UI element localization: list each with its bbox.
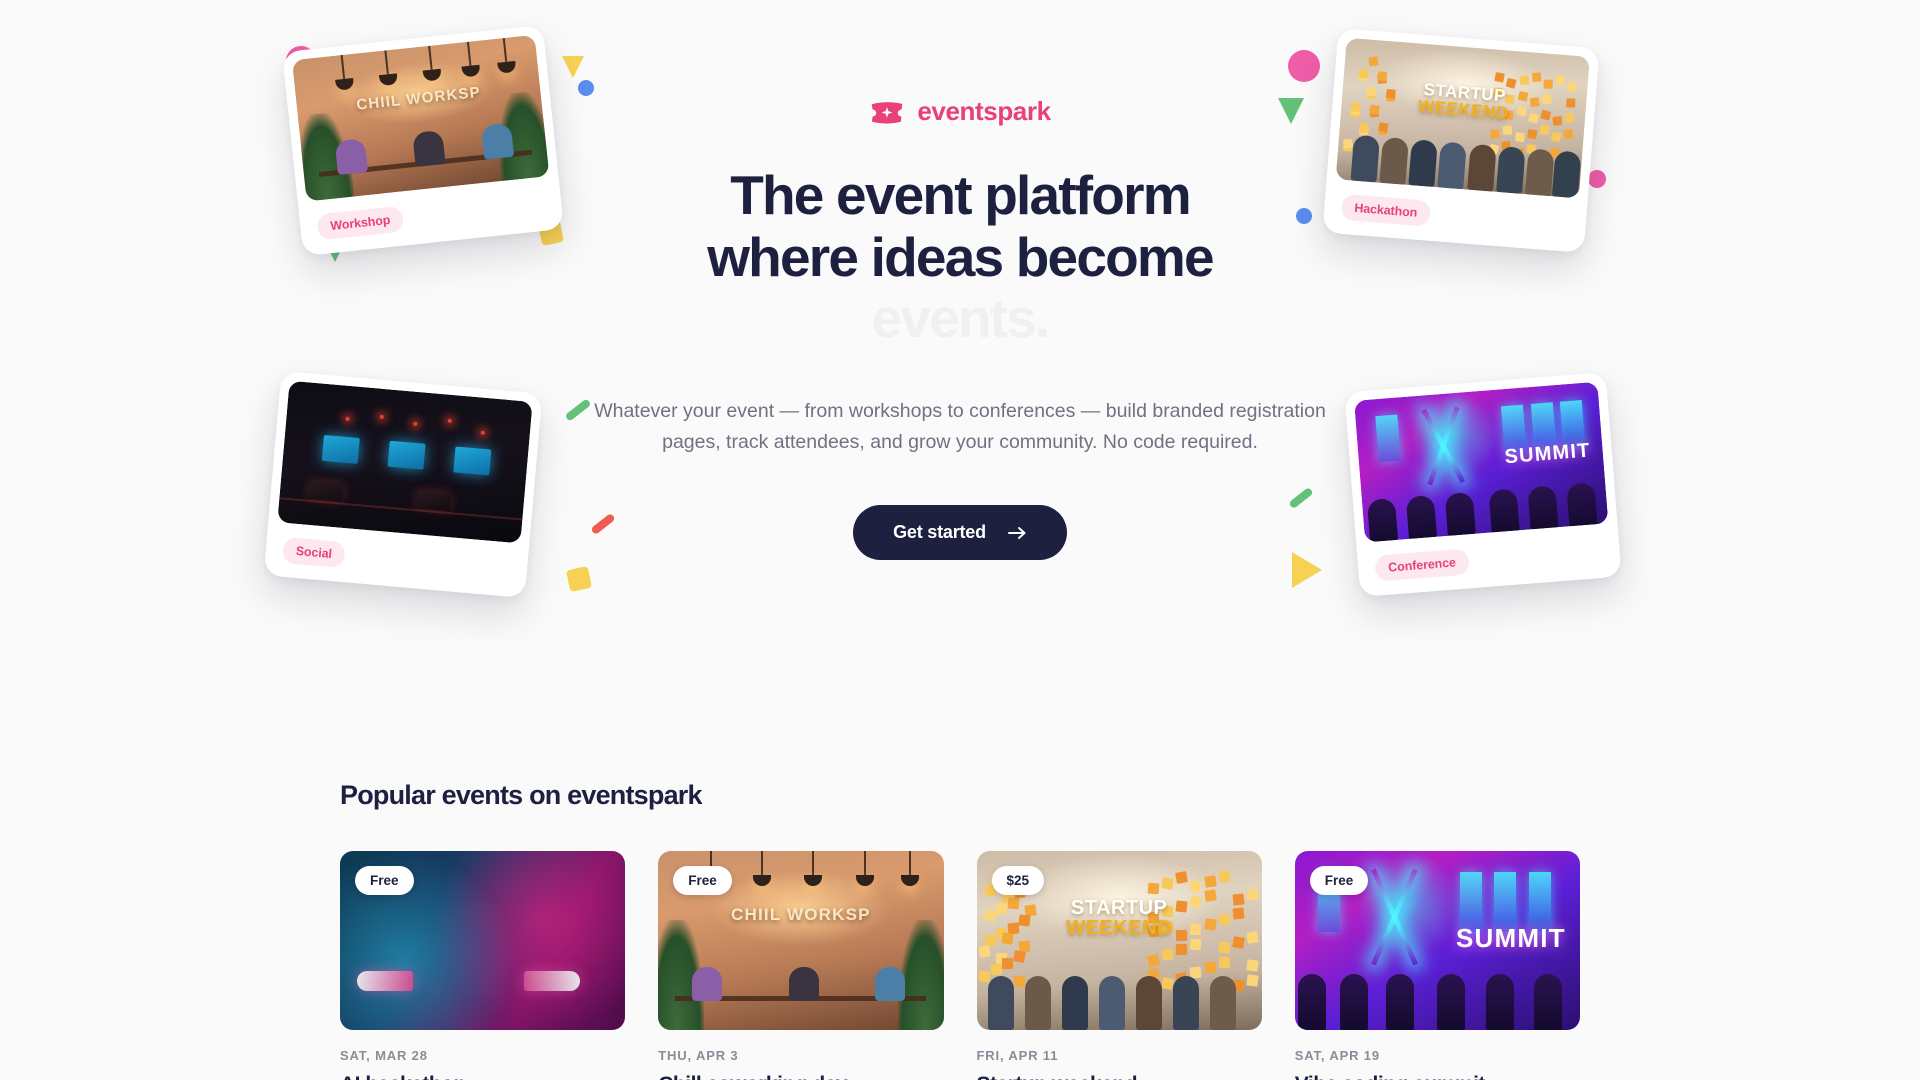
sticky-note bbox=[1532, 72, 1542, 82]
sticky-note bbox=[1556, 76, 1566, 86]
event-title: Chill coworking day bbox=[658, 1072, 943, 1080]
sticky-note bbox=[1204, 875, 1216, 887]
get-started-button[interactable]: Get started bbox=[853, 505, 1067, 560]
event-date: SAT, MAR 28 bbox=[340, 1048, 625, 1063]
event-date: THU, APR 3 bbox=[658, 1048, 943, 1063]
category-pill: Conference bbox=[1374, 548, 1470, 581]
category-pill: Social bbox=[282, 537, 346, 568]
floating-card-conference[interactable]: SUMMIT Conference bbox=[1344, 372, 1621, 597]
event-card[interactable]: Free CHIIL WORKSP THU, APR 3Chill cowork… bbox=[658, 851, 943, 1080]
price-badge: Free bbox=[355, 866, 414, 895]
floating-card-workshop[interactable]: CHIIL WORKSP Workshop bbox=[282, 25, 564, 256]
event-card[interactable]: Free SUMMIT SAT, APR 19Vibe coding summi… bbox=[1295, 851, 1580, 1080]
price-badge: Free bbox=[673, 866, 732, 895]
floating-card-thumb bbox=[277, 381, 532, 544]
conference-photo: SUMMIT bbox=[1354, 382, 1608, 543]
popular-events-section: Popular events on eventspark Free SAT, M… bbox=[0, 780, 1920, 1080]
hackathon-photo: STARTUP WEEKEND bbox=[1336, 38, 1590, 199]
headline-line-1: The event platform bbox=[580, 165, 1340, 227]
category-pill: Workshop bbox=[316, 206, 404, 241]
hero-subtitle: Whatever your event — from workshops to … bbox=[580, 396, 1340, 458]
social-photo bbox=[277, 381, 532, 544]
sticky-note bbox=[1161, 877, 1174, 890]
sticky-note bbox=[1189, 880, 1202, 893]
get-started-label: Get started bbox=[893, 522, 986, 543]
ticket-sparkle-icon bbox=[869, 99, 905, 125]
sticky-note bbox=[1519, 75, 1529, 85]
sticky-note bbox=[1544, 79, 1553, 88]
floating-card-thumb: STARTUP WEEKEND bbox=[1336, 38, 1590, 199]
hero-content: eventspark The event platform where idea… bbox=[580, 96, 1340, 560]
pink-dot-3-shape bbox=[1588, 170, 1606, 188]
sticky-note bbox=[1219, 870, 1231, 882]
blue-dot-shape bbox=[578, 80, 594, 96]
yellow-tri-shape bbox=[562, 56, 584, 78]
event-title: AI hackathon bbox=[340, 1072, 625, 1080]
sticky-note bbox=[1147, 883, 1159, 895]
brand-logo[interactable]: eventspark bbox=[580, 96, 1340, 127]
event-date: FRI, APR 11 bbox=[977, 1048, 1262, 1063]
headline-line-2: where ideas become bbox=[580, 227, 1340, 289]
event-thumbnail: Free CHIIL WORKSP bbox=[658, 851, 943, 1030]
yellow-sq-2-shape bbox=[566, 566, 592, 592]
workshop-photo: CHIIL WORKSP bbox=[292, 35, 550, 202]
sticky-note bbox=[1495, 72, 1505, 82]
event-title: Startup weekend bbox=[977, 1072, 1262, 1080]
event-thumbnail: Free SUMMIT bbox=[1295, 851, 1580, 1030]
event-thumbnail: $25 STARTUPWEEKEND bbox=[977, 851, 1262, 1030]
headline-line-3: events. bbox=[580, 288, 1340, 350]
arrow-right-icon bbox=[1008, 526, 1027, 540]
page-title: The event platform where ideas become ev… bbox=[580, 165, 1340, 350]
floating-card-thumb: CHIIL WORKSP bbox=[292, 35, 550, 202]
event-date: SAT, APR 19 bbox=[1295, 1048, 1580, 1063]
floating-card-thumb: SUMMIT bbox=[1354, 382, 1608, 543]
hero-section: CHIIL WORKSP Workshop STARTUP WEEKEND bbox=[0, 0, 1920, 670]
event-card[interactable]: Free SAT, MAR 28AI hackathon bbox=[340, 851, 625, 1080]
sticky-note bbox=[1175, 872, 1188, 885]
brand-name: eventspark bbox=[917, 96, 1050, 127]
section-title: Popular events on eventspark bbox=[340, 780, 1580, 811]
price-badge: $25 bbox=[992, 866, 1045, 895]
floating-card-social[interactable]: Social bbox=[264, 371, 543, 598]
event-card[interactable]: $25 STARTUPWEEKEND FRI, APR 11Startup we… bbox=[977, 851, 1262, 1080]
floating-card-hackathon[interactable]: STARTUP WEEKEND Hackathon bbox=[1322, 28, 1599, 253]
sticky-note bbox=[1369, 56, 1379, 66]
pink-dot-2-shape bbox=[1288, 50, 1320, 82]
category-pill: Hackathon bbox=[1340, 194, 1431, 227]
price-badge: Free bbox=[1310, 866, 1369, 895]
sticky-note bbox=[1567, 82, 1577, 92]
event-title: Vibe coding summit bbox=[1295, 1072, 1580, 1080]
cta-wrapper: Get started bbox=[580, 505, 1340, 560]
events-grid: Free SAT, MAR 28AI hackathonFree CHIIL W… bbox=[340, 851, 1580, 1080]
event-thumbnail: Free bbox=[340, 851, 625, 1030]
